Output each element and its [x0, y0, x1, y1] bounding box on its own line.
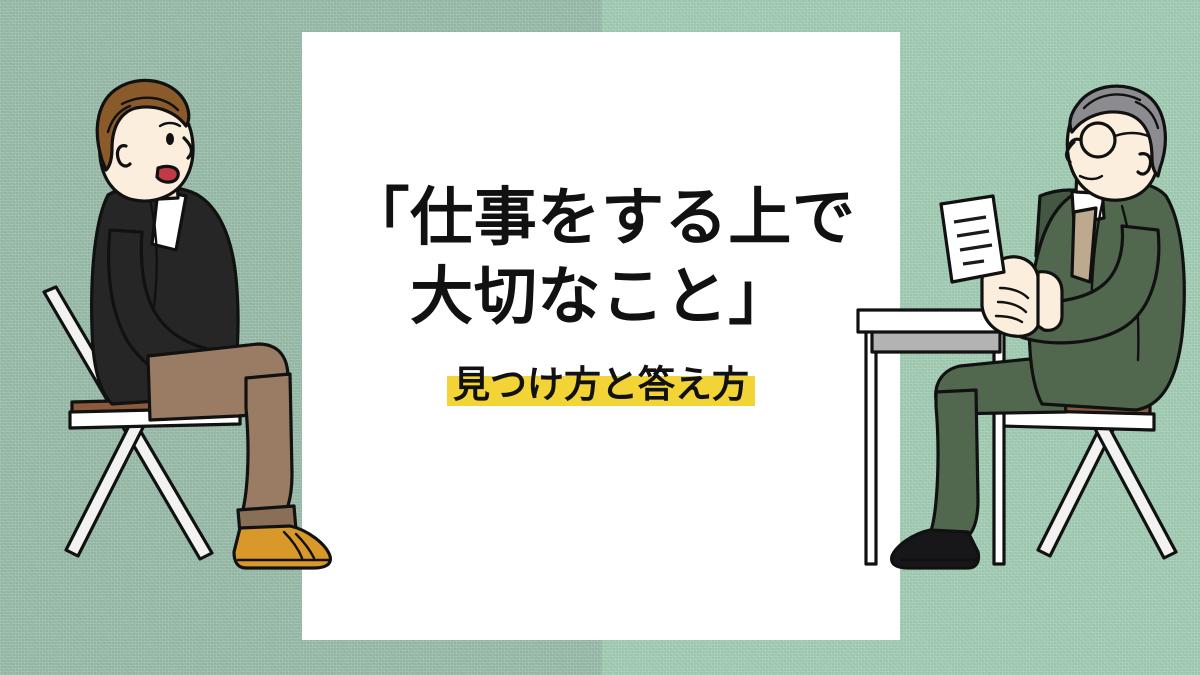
thumbnail-canvas: .ol { stroke:#111; stroke-width:3.2; str… [0, 0, 1200, 675]
subline-block: 見つけ方と答え方 [447, 362, 755, 408]
headline-line-1: 「仕事をする上で [302, 180, 900, 257]
subline-text: 見つけ方と答え方 [453, 364, 749, 405]
title-block: 「仕事をする上で 大切なこと」 見つけ方と答え方 [302, 180, 900, 408]
headline-line-2: 大切なこと」 [302, 259, 900, 336]
